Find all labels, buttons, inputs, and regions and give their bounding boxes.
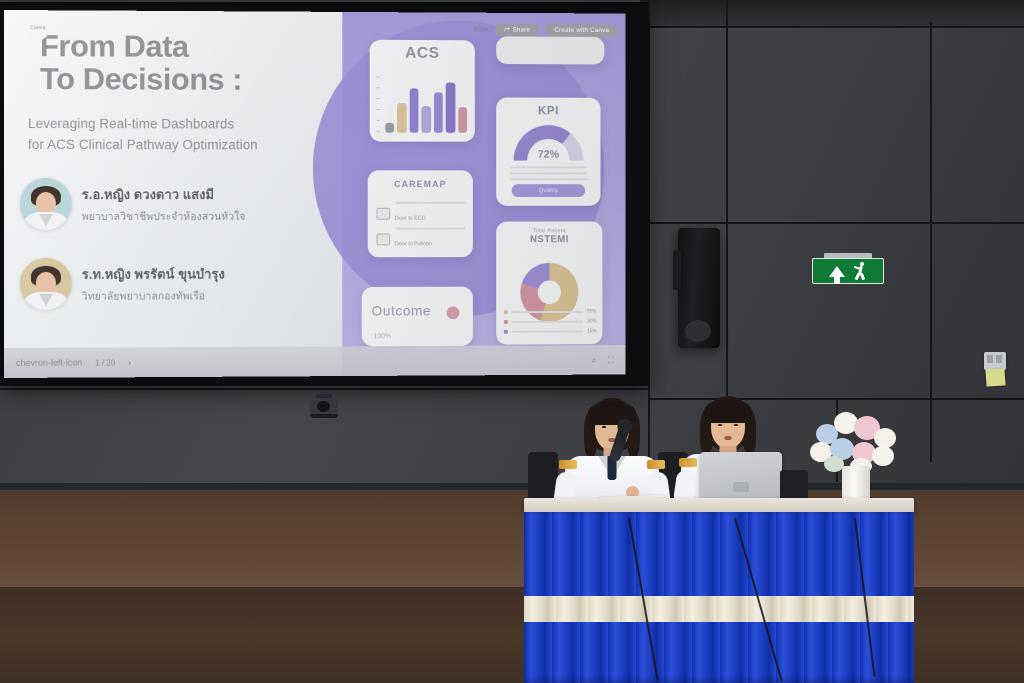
projection-screen-frame: Canva 60% Share Create with Canva From D…	[0, 2, 648, 386]
legend-swatch	[504, 320, 508, 324]
avatar	[20, 178, 72, 230]
donut-hole	[538, 280, 561, 304]
slide-speaker-1: ร.อ.หญิง ดวงดาว แสงมี พยาบาลวิชาชีพประจำ…	[20, 178, 245, 230]
ceiling-edge	[640, 0, 1024, 26]
legend-row: 15%	[504, 328, 597, 334]
wall-outlet-plate[interactable]	[984, 352, 1006, 370]
camera-base-ring	[310, 414, 338, 418]
projection-screen[interactable]: Canva 60% Share Create with Canva From D…	[4, 10, 626, 378]
flower	[874, 428, 896, 448]
bar	[434, 93, 443, 133]
rank-epaulette	[679, 458, 697, 467]
expand-icon[interactable]: ⛶	[608, 354, 614, 365]
wall-seam	[0, 388, 650, 390]
speaker-mount-bracket	[673, 250, 681, 290]
slide-title-line2: To Decisions :	[40, 63, 242, 96]
bar	[446, 83, 455, 133]
speaker-cone	[685, 320, 711, 342]
bar	[385, 122, 394, 132]
wall-seam	[726, 0, 728, 430]
slide-counter: 1 / 20	[95, 358, 115, 367]
running-person-icon	[852, 262, 868, 280]
avatar-uniform	[25, 212, 67, 230]
acs-axis-ticks	[376, 76, 380, 131]
flower	[872, 446, 894, 466]
kpi-value: 72%	[496, 149, 600, 161]
legend-row: 55%	[504, 309, 597, 315]
avatar-uniform	[25, 292, 67, 310]
kpi-button[interactable]: Quality	[512, 184, 585, 197]
caremap-item: Door to Balloon	[376, 228, 465, 251]
legend-swatch	[504, 310, 508, 314]
chevron-right-icon[interactable]: ›	[128, 357, 131, 367]
laptop[interactable]	[700, 452, 782, 504]
speaker-2-role: วิทยาลัยพยาบาลกองทัพเรือ	[82, 287, 225, 304]
caremap-item: Door to ECG	[376, 202, 465, 225]
wall-seam	[648, 222, 1024, 224]
nstemi-legend: 55% 30% 15%	[504, 309, 597, 339]
slide-canvas: Canva 60% Share Create with Canva From D…	[4, 10, 626, 378]
caremap-item-label: Door to Balloon	[395, 241, 432, 247]
speaker-1-name: ร.อ.หญิง ดวงดาว แสงมี	[82, 184, 246, 205]
dashboard-card-acs: ACS	[370, 40, 475, 142]
presenter-mouth	[725, 436, 732, 440]
emergency-exit-sign	[812, 258, 884, 284]
conference-room-photo: Canva 60% Share Create with Canva From D…	[0, 0, 1024, 683]
wall-speaker	[678, 228, 720, 348]
slide-speaker-2: ร.ท.หญิง พรรัตน์ ขุนบำรุง วิทยาลัยพยาบาล…	[20, 258, 225, 310]
wall-seam	[930, 22, 932, 462]
presenter-bangs	[704, 399, 752, 423]
dashboard-card-outcome: Outcome 100%	[362, 287, 473, 347]
bar	[458, 108, 467, 133]
skeleton-line	[510, 178, 587, 180]
legend-swatch	[504, 330, 508, 334]
slide-subtitle: Leveraging Real-time Dashboards for ACS …	[28, 114, 334, 156]
wall-seam	[648, 26, 1024, 28]
nstemi-card-subtitle: Total Patient	[496, 221, 602, 234]
speaker-2-name: ร.ท.หญิง พรรัตน์ ขุนบำรุง	[82, 263, 225, 284]
magnifier-icon[interactable]: ⌕	[591, 354, 596, 365]
exit-sign-panel	[812, 258, 884, 284]
legend-value: 15%	[587, 328, 597, 334]
skeleton-line	[510, 172, 587, 174]
table-skirt-stripe	[524, 596, 914, 622]
table-skirt	[524, 512, 914, 683]
presentation-footer-bar: chevron-left-icon 1 / 20 › ⌕ ⛶	[4, 345, 626, 378]
caremap-item-lines: Door to Balloon	[395, 228, 465, 251]
chevron-left-icon[interactable]: chevron-left-icon	[16, 358, 82, 368]
acs-card-title: ACS	[370, 40, 475, 63]
laptop-lid	[700, 452, 782, 504]
bar	[422, 106, 431, 132]
up-arrow-icon	[829, 266, 845, 277]
baseboard	[0, 483, 1024, 490]
dashboard-card-nstemi: Total Patient NSTEMI 55%	[496, 221, 602, 344]
slide-subtitle-line2: for ACS Clinical Pathway Optimization	[28, 135, 334, 156]
legend-bar	[512, 311, 583, 313]
outcome-status-dot	[447, 306, 460, 319]
slide-title-line1: From Data	[40, 30, 242, 64]
share-button-label: Share	[512, 26, 530, 33]
caremap-card-title: CAREMAP	[368, 170, 473, 189]
slide-navigation: chevron-left-icon 1 / 20 ›	[16, 357, 131, 368]
legend-value: 30%	[587, 319, 597, 325]
canva-logo: Canva	[26, 16, 50, 40]
legend-value: 55%	[587, 309, 597, 315]
flower	[824, 456, 844, 472]
flower-bouquet	[806, 406, 904, 474]
laptop-logo	[733, 482, 749, 492]
bar	[410, 88, 419, 133]
sticky-note	[985, 368, 1005, 386]
caremap-item-label: Door to ECG	[395, 216, 426, 222]
ecg-icon	[376, 207, 390, 219]
slide-subtitle-line1: Leveraging Real-time Dashboards	[28, 114, 334, 135]
bar	[397, 103, 406, 133]
canva-toolbar: 60% Share Create with Canva	[474, 19, 618, 41]
outcome-value: 100%	[374, 333, 391, 340]
avatar-face	[36, 271, 56, 293]
skeleton-line	[510, 166, 587, 168]
speaker-1-role: พยาบาลวิชาชีพประจำห้องสวนหัวใจ	[82, 207, 246, 224]
dashboard-card-caremap: CAREMAP Door to ECG Door to Balloon	[368, 170, 473, 257]
legend-bar	[512, 331, 583, 333]
acs-bar-chart	[385, 75, 467, 132]
presentation-view-controls: ⌕ ⛶	[591, 354, 613, 365]
create-with-canva-button[interactable]: Create with Canva	[546, 23, 618, 36]
slide-title: From Data To Decisions :	[40, 30, 242, 96]
nstemi-card-title: NSTEMI	[496, 234, 602, 245]
kpi-card-title: KPI	[496, 97, 600, 117]
dashboard-card-kpi: KPI 72% Quality	[496, 97, 600, 205]
balloon-icon	[376, 233, 390, 245]
avatar-face	[36, 192, 56, 214]
rank-epaulette	[647, 460, 665, 469]
ptz-conference-camera	[308, 394, 340, 424]
share-button[interactable]: Share	[495, 23, 539, 36]
camera-lens	[317, 401, 330, 412]
caremap-item-lines: Door to ECG	[395, 202, 465, 225]
legend-bar	[512, 321, 583, 323]
avatar	[20, 258, 72, 310]
legend-row: 30%	[504, 319, 597, 325]
share-icon	[504, 27, 510, 33]
rank-epaulette	[559, 460, 577, 469]
zoom-level-label[interactable]: 60%	[474, 26, 488, 33]
